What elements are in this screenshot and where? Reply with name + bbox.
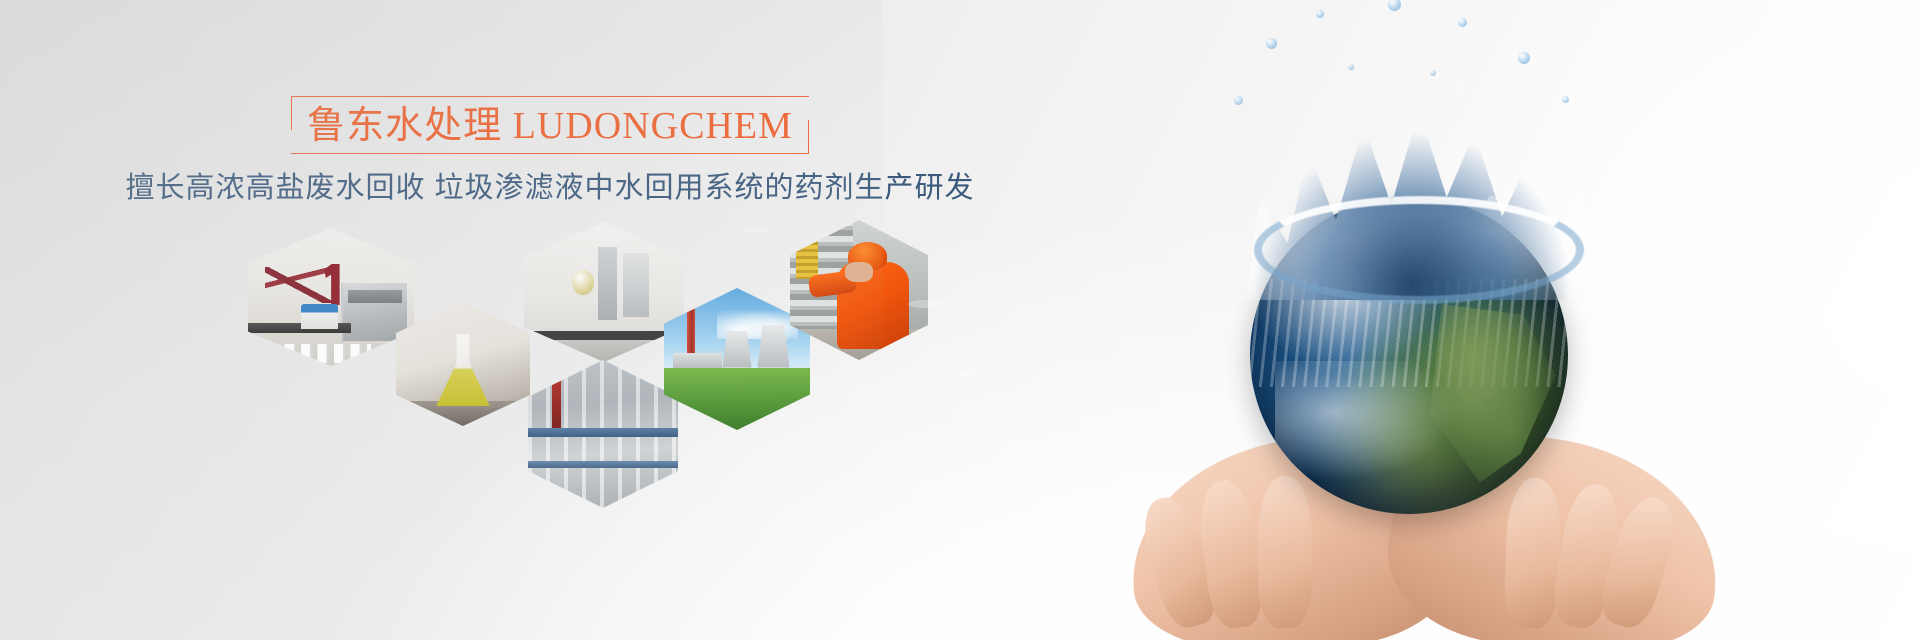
glass-flask bbox=[572, 270, 594, 295]
droplet-7 bbox=[1234, 96, 1243, 105]
water-splash bbox=[1220, 0, 1620, 300]
lab-slogan-art bbox=[265, 267, 335, 303]
cooling-tower-a bbox=[722, 331, 751, 368]
floor-glint-5 bbox=[1456, 86, 1464, 94]
droplet-5 bbox=[1518, 52, 1530, 64]
hex-photo-lab-room[interactable] bbox=[248, 228, 414, 366]
globe-highlight bbox=[1275, 361, 1472, 488]
hex-photo-glassware[interactable] bbox=[524, 222, 684, 362]
water-splash-globe-in-hands bbox=[1100, 0, 1920, 640]
hex-photo-flask[interactable] bbox=[396, 302, 530, 426]
pipe-red-unit bbox=[552, 378, 561, 428]
finger-3 bbox=[1258, 476, 1312, 628]
plant-green-field bbox=[664, 368, 810, 430]
finger-4 bbox=[1503, 477, 1562, 629]
floor-glint-4 bbox=[1487, 196, 1497, 206]
hexagon-photo-cluster bbox=[0, 0, 1100, 640]
hex-photo-piping[interactable] bbox=[528, 360, 678, 508]
hero-banner: 鲁东水处理 LUDONGCHEM 擅长高浓高盐废水回收 垃圾渗滤液中水回用系统的… bbox=[0, 0, 1920, 640]
lab-room-photo bbox=[248, 228, 414, 366]
pipe-rail-lower bbox=[528, 461, 678, 468]
floor-glint-3 bbox=[952, 372, 974, 378]
worker-yellow-pipes bbox=[796, 231, 818, 279]
droplet-2 bbox=[1316, 10, 1324, 18]
droplet-8 bbox=[1430, 70, 1436, 76]
power-plant-photo bbox=[664, 288, 810, 430]
droplet-6 bbox=[1562, 96, 1569, 103]
droplet-1 bbox=[1266, 38, 1277, 49]
droplet-3 bbox=[1388, 0, 1401, 11]
cooling-tower-b bbox=[757, 325, 789, 368]
pipe-rail-upper bbox=[528, 428, 678, 437]
hex-photo-worker[interactable] bbox=[790, 220, 928, 360]
splash-ring bbox=[1254, 196, 1584, 304]
hex-photo-power-plant[interactable] bbox=[664, 288, 810, 430]
floor-glint-1 bbox=[742, 226, 768, 233]
worker-face bbox=[845, 262, 873, 282]
floor-glint-2 bbox=[908, 300, 942, 308]
glass-column-b bbox=[623, 253, 649, 317]
droplet-9 bbox=[1348, 64, 1354, 70]
glass-column-a bbox=[598, 247, 617, 320]
glass-bench bbox=[524, 331, 684, 339]
droplet-4 bbox=[1458, 18, 1467, 27]
flask-vessel bbox=[436, 334, 490, 406]
glassware-photo bbox=[524, 222, 684, 362]
flask-photo bbox=[396, 302, 530, 426]
lab-instrument bbox=[301, 304, 338, 329]
piping-photo bbox=[528, 360, 678, 508]
worker-photo bbox=[790, 220, 928, 360]
lab-drums bbox=[268, 344, 371, 363]
glass-floor bbox=[524, 340, 684, 362]
